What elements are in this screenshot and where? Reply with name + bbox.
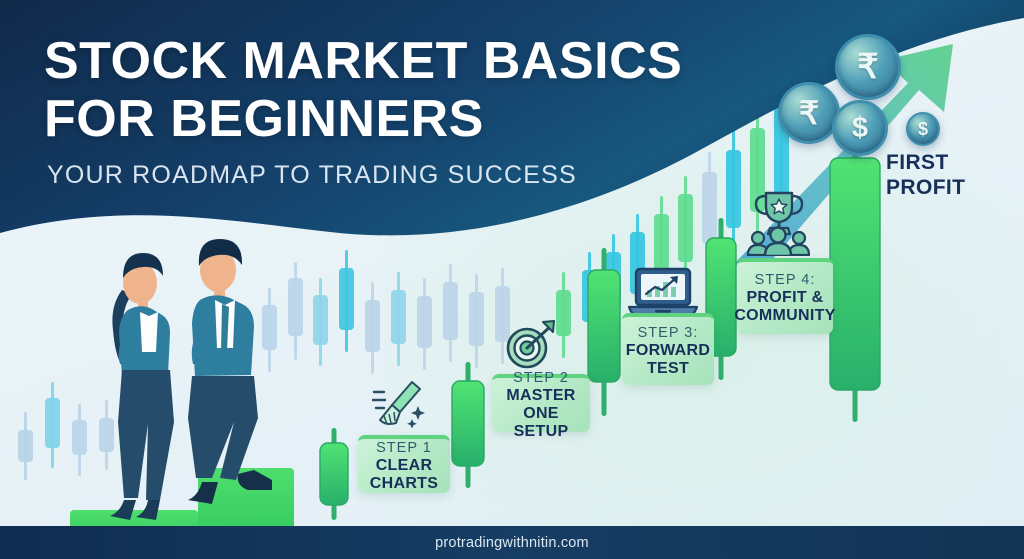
step-title-3-line1: FORWARD (626, 342, 710, 360)
step-title-4-line1: PROFIT & (746, 289, 823, 307)
rupee-coin-large-symbol: ₹ (799, 94, 819, 132)
infographic-canvas: STOCK MARKET BASICS FOR BEGINNERS YOUR R… (0, 0, 1024, 559)
step-plate-1[interactable]: STEP 1CLEARCHARTS (358, 435, 450, 493)
step-plate-3[interactable]: STEP 3:FORWARDTEST (622, 313, 714, 385)
website-url: protradingwithnitin.com (435, 535, 589, 551)
step-title-2-line2: ONE SETUP (499, 405, 583, 441)
step-plate-4[interactable]: STEP 4:PROFIT &COMMUNITY (737, 258, 833, 334)
step-plate-2[interactable]: STEP 2MASTERONE SETUP (492, 374, 590, 432)
footer-bar: protradingwithnitin.com (0, 526, 1024, 559)
target-icon (502, 320, 558, 377)
step-title-3-line2: TEST (647, 360, 689, 378)
first-profit-line1: FIRST (886, 150, 996, 175)
step-number-4: STEP 4: (755, 272, 816, 289)
page-title-line1: STOCK MARKET BASICS (44, 32, 744, 90)
step2-candle (452, 381, 484, 466)
dollar-coin-small: $ (906, 112, 940, 146)
step-title-1-line1: CLEAR (376, 457, 433, 475)
first-profit-label: FIRST PROFIT (886, 150, 996, 200)
title-block: STOCK MARKET BASICS FOR BEGINNERS YOUR R… (44, 32, 744, 190)
dollar-coin-main-symbol: $ (852, 112, 868, 145)
first-profit-line2: PROFIT (886, 175, 996, 200)
step-title-2-line1: MASTER (506, 387, 575, 405)
page-subtitle: YOUR ROADMAP TO TRADING SUCCESS (47, 161, 744, 190)
step1-candle (320, 443, 348, 505)
rupee-coin-top-symbol: ₹ (857, 47, 879, 87)
step-title-1-line2: CHARTS (370, 475, 438, 493)
dollar-coin-small-symbol: $ (918, 119, 928, 140)
rupee-coin-large: ₹ (778, 82, 840, 144)
rupee-coin-top: ₹ (835, 34, 901, 100)
trophy-people-icon (742, 190, 814, 261)
dollar-coin-main: $ (832, 100, 888, 156)
page-title-line2: FOR BEGINNERS (44, 90, 744, 148)
step-number-2: STEP 2 (513, 370, 569, 387)
broom-icon (372, 378, 430, 433)
step-number-1: STEP 1 (376, 440, 432, 457)
step-title-4-line2: COMMUNITY (734, 307, 835, 325)
step-number-3: STEP 3: (638, 325, 699, 342)
